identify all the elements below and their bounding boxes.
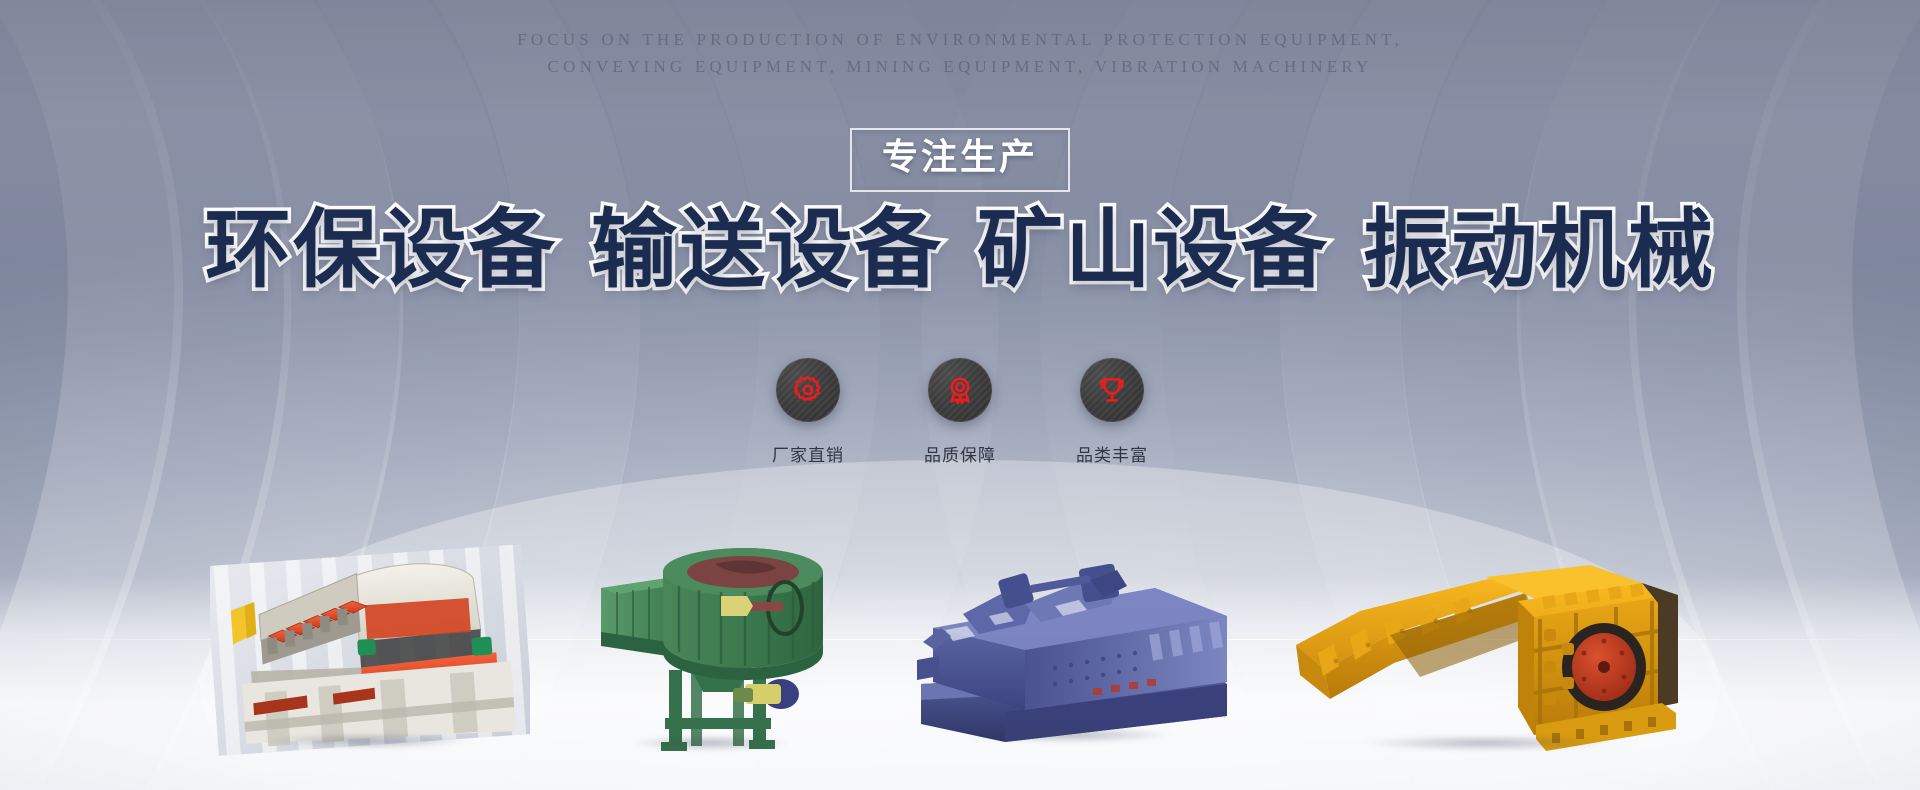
feature-item-quality[interactable]: 品质保障 (915, 358, 1005, 466)
feature-label: 品类丰富 (1076, 441, 1148, 466)
headline-part-4: 振动机械 (1363, 200, 1715, 300)
product-shadow (1313, 732, 1656, 754)
page-title: 环保设备输送设备矿山设备振动机械 (0, 196, 1920, 304)
product-shadow (229, 730, 511, 752)
english-tagline: Focus on the production of environmental… (0, 26, 1920, 80)
headline-part-1: 环保设备 (205, 200, 557, 300)
product-image-conveying-equipment[interactable] (210, 545, 530, 760)
product-image-yellow-jaw-crusher[interactable] (1290, 557, 1680, 762)
product-image-green-disc-feeder[interactable] (585, 542, 835, 762)
feature-item-variety[interactable]: 品类丰富 (1067, 358, 1157, 466)
tagline-line-2: conveying equipment, mining equipment, v… (548, 57, 1373, 76)
focus-badge-label: 专注生产 (882, 139, 1038, 177)
feature-item-factory-direct[interactable]: 厂家直销 (763, 358, 853, 466)
hero-banner: Focus on the production of environmental… (0, 0, 1920, 790)
medal-icon (928, 358, 992, 422)
trophy-icon (1080, 358, 1144, 422)
feature-list: 厂家直销 品质保障 (763, 358, 1157, 466)
headline-part-3: 矿山设备 (977, 200, 1329, 300)
focus-badge: 专注生产 (850, 128, 1070, 192)
product-shadow (600, 732, 820, 754)
product-gallery (0, 490, 1920, 790)
product-shadow (925, 724, 1215, 746)
product-image-blue-vibrating-screen[interactable] (905, 564, 1235, 754)
feature-label: 厂家直销 (772, 441, 844, 466)
tagline-line-1: Focus on the production of environmental… (517, 30, 1403, 49)
gear-icon (776, 358, 840, 422)
feature-label: 品质保障 (924, 441, 996, 466)
headline-part-2: 输送设备 (591, 200, 943, 300)
